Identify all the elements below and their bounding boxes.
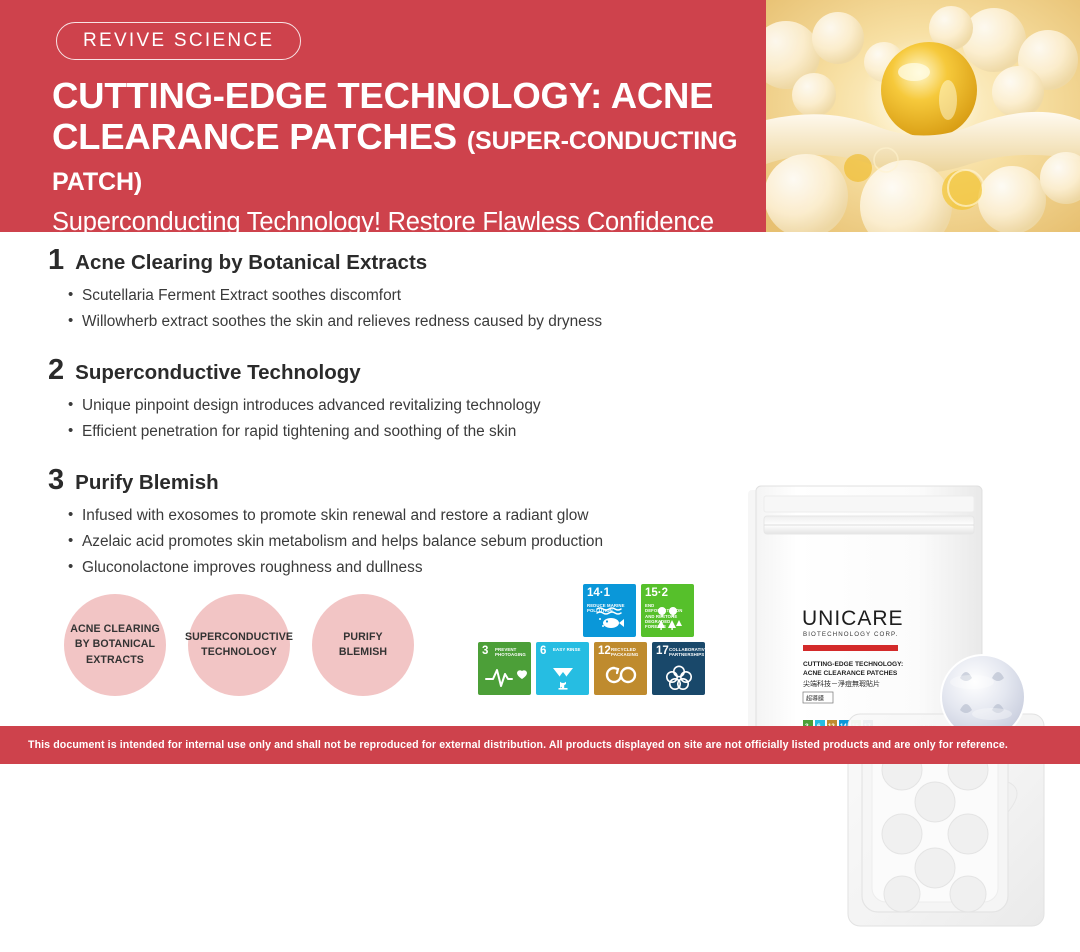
feature-section-3: 3 Purify Blemish Infused with exosomes t… [48,466,708,576]
sdg-3-number: 3 [482,646,488,658]
benefit-circle-acne-clearing: ACNE CLEARING BY BOTANICAL EXTRACTS [64,594,166,696]
sdg-14-number: 14·1 [587,588,610,600]
page-title: CUTTING-EDGE TECHNOLOGY: ACNE CLEARANCE … [52,76,778,199]
sdg-badge-12: 12 RECYCLED PACKAGING [594,642,647,695]
product-infographic-page: REVIVE SCIENCE CUTTING-EDGE TECHNOLOGY: … [0,0,1080,764]
sdg-badge-group: 14·1 REDUCE MARINE POLLUTION [478,584,713,709]
sdg-17-number: 17 [656,646,669,658]
page-title-line2: CLEARANCE PATCHES [52,116,457,157]
page-content: 1 Acne Clearing by Botanical Extracts Sc… [0,232,1080,726]
page-footer: This document is intended for internal u… [0,726,1080,764]
bullet-item: Infused with exosomes to promote skin re… [68,508,708,523]
bullet-item: Gluconolactone improves roughness and du… [68,560,708,575]
bullet-item: Willowherb extract soothes the skin and … [68,314,708,329]
svg-text:CUTTING-EDGE TECHNOLOGY:: CUTTING-EDGE TECHNOLOGY: [803,661,903,668]
section-2-title: Superconductive Technology [75,363,361,384]
hero-image [766,0,1080,232]
svg-text:超導膜: 超導膜 [806,695,824,703]
section-1-number: 1 [48,246,64,275]
sdg-badge-14: 14·1 REDUCE MARINE POLLUTION [583,584,636,637]
sdg-12-number: 12 [598,646,611,658]
section-3-number: 3 [48,466,64,495]
svg-text:尖端科技－淨痘無瑕貼片: 尖端科技－淨痘無瑕貼片 [803,679,880,688]
sdg-6-label: EASY RINSE [553,647,587,653]
feature-sections: 1 Acne Clearing by Botanical Extracts Sc… [48,246,708,587]
page-title-line1: CUTTING-EDGE TECHNOLOGY: ACNE [52,75,713,116]
feature-section-2: 2 Superconductive Technology Unique pinp… [48,356,708,440]
sdg-badge-15: 15·2 END DEFORESTATION AND RESTORE DEGRA… [641,584,694,637]
sdg-badge-3: 3 PREVENT PHOTOAGING [478,642,531,695]
bullet-item: Scutellaria Ferment Extract soothes disc… [68,288,708,303]
feature-section-1: 1 Acne Clearing by Botanical Extracts Sc… [48,246,708,330]
heartbeat-icon [478,664,531,692]
product-image-group: UNICARE BIOTECHNOLOGY CORP. CUTTING-EDGE… [742,482,1072,952]
footer-disclaimer: This document is intended for internal u… [28,739,1008,751]
infinity-loop-icon [594,664,647,692]
svg-text:ACNE CLEARANCE PATCHES: ACNE CLEARANCE PATCHES [803,670,898,677]
benefit-circles: ACNE CLEARING BY BOTANICAL EXTRACTS SUPE… [64,594,414,696]
svg-text:BIOTECHNOLOGY CORP.: BIOTECHNOLOGY CORP. [803,631,898,638]
section-1-bullets: Scutellaria Ferment Extract soothes disc… [48,288,708,330]
benefit-circle-purify-blemish: PURIFY BLEMISH [312,594,414,696]
sdg-row-bottom: 3 PREVENT PHOTOAGING 6 EASY RINSE [478,642,713,695]
section-2-heading: 2 Superconductive Technology [48,356,708,385]
bullet-item: Azelaic acid promotes skin metabolism an… [68,534,708,549]
sdg-15-number: 15·2 [645,588,668,600]
sdg-6-number: 6 [540,646,546,658]
fish-waves-icon [583,606,636,634]
section-3-heading: 3 Purify Blemish [48,466,708,495]
interlocking-circles-icon [652,664,705,692]
section-3-title: Purify Blemish [75,473,219,494]
section-2-number: 2 [48,356,64,385]
trees-icon [641,606,694,634]
sdg-3-label: PREVENT PHOTOAGING [495,647,529,658]
sdg-17-label: COLLABORATIVE PARTNERSHIPS [669,647,703,658]
svg-text:UNICARE: UNICARE [802,607,904,630]
water-drop-icon [536,664,589,692]
section-2-bullets: Unique pinpoint design introduces advanc… [48,398,708,440]
benefit-circle-superconductive: SUPERCONDUCTIVE TECHNOLOGY [188,594,290,696]
sdg-12-label: RECYCLED PACKAGING [611,647,645,658]
section-1-heading: 1 Acne Clearing by Botanical Extracts [48,246,708,275]
sdg-row-top: 14·1 REDUCE MARINE POLLUTION [583,584,713,637]
section-3-bullets: Infused with exosomes to promote skin re… [48,508,708,576]
bullet-item: Efficient penetration for rapid tighteni… [68,424,708,439]
section-1-title: Acne Clearing by Botanical Extracts [75,253,427,274]
bullet-item: Unique pinpoint design introduces advanc… [68,398,708,413]
revive-science-badge: REVIVE SCIENCE [56,22,301,60]
sdg-badge-17: 17 COLLABORATIVE PARTNERSHIPS [652,642,705,695]
header-text-block: REVIVE SCIENCE CUTTING-EDGE TECHNOLOGY: … [48,0,778,232]
page-header: REVIVE SCIENCE CUTTING-EDGE TECHNOLOGY: … [0,0,1080,232]
sdg-badge-6: 6 EASY RINSE [536,642,589,695]
